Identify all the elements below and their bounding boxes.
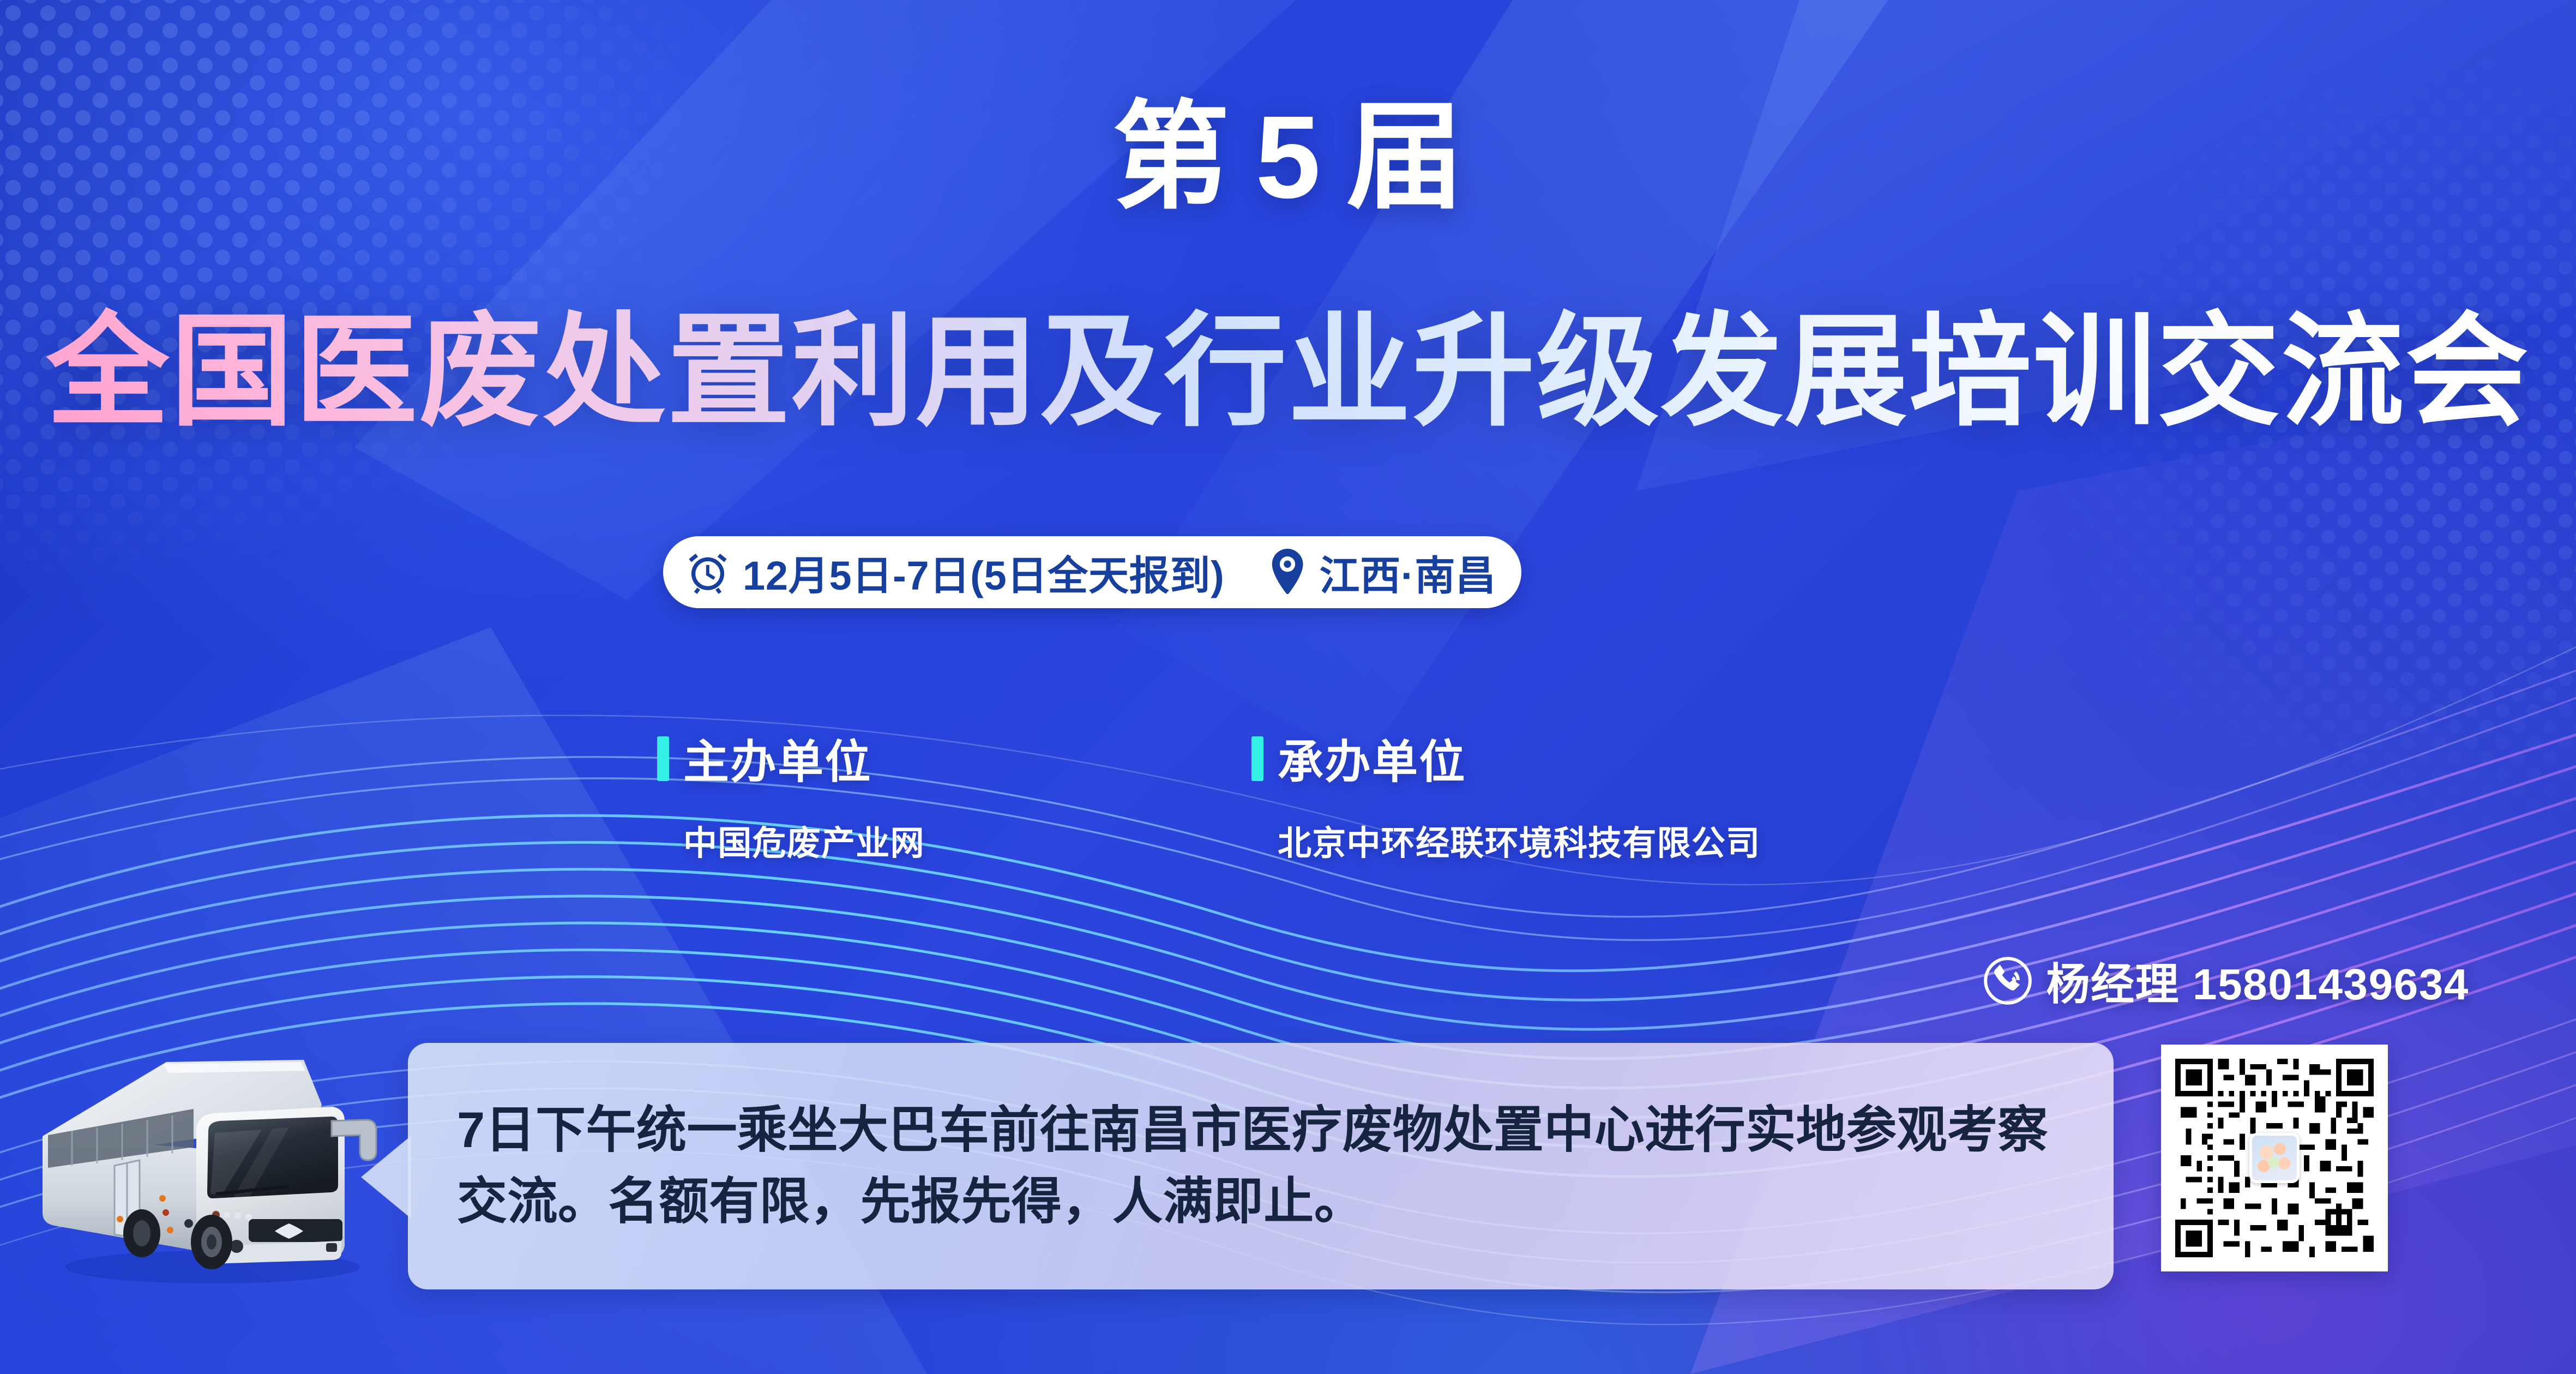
accent-bar-icon [1251,736,1263,781]
organizer-co-role: 承办单位 [1278,725,1466,791]
contact-line: 杨经理 15801439634 [1982,949,2469,1012]
event-date: 12月5日-7日(5日全天报到) [743,543,1225,602]
organizer-section: 主办单位 中国危废产业网 承办单位 北京中环经联环境科技有限公司 [657,725,1846,865]
date-location-pill: 12月5日-7日(5日全天报到) 江西·南昌 [663,536,1521,608]
event-headline: 全国医废处置利用及行业升级发展培训交流会 [0,303,2576,440]
organizer-co-name: 北京中环经联环境科技有限公司 [1278,815,1846,865]
flower-bouquet-avatar [2249,1133,2300,1183]
contact-name-phone: 杨经理 15801439634 [2046,949,2469,1012]
phone-icon [1982,955,2034,1007]
edition-kicker: 第5届 [0,98,2576,215]
bubble-tail [361,1136,411,1219]
event-promo-banner: 第5届 全国医废处置利用及行业升级发展培训交流会 12月5日-7日(5日全天报到… [0,0,2576,1374]
organizer-host: 主办单位 中国危废产业网 [657,725,1251,865]
wechat-qr-code[interactable] [2161,1045,2388,1271]
organizer-host-name: 中国危废产业网 [683,815,1251,865]
notice-text: 7日下午统一乘坐大巴车前往南昌市医疗废物处置中心进行实地参观考察交流。名额有限，… [457,1095,2061,1237]
location-pin-icon [1267,549,1308,596]
alarm-clock-icon [685,549,731,595]
coach-bus-illustration [33,1039,414,1295]
organizer-host-role: 主办单位 [683,725,872,791]
organizer-co: 承办单位 北京中环经联环境科技有限公司 [1251,725,1846,865]
organizer-host-head: 主办单位 [657,725,1251,791]
event-location: 江西·南昌 [1320,543,1496,602]
notice-bubble: 7日下午统一乘坐大巴车前往南昌市医疗废物处置中心进行实地参观考察交流。名额有限，… [408,1043,2114,1289]
organizer-co-head: 承办单位 [1251,725,1846,791]
accent-bar-icon [657,736,669,781]
